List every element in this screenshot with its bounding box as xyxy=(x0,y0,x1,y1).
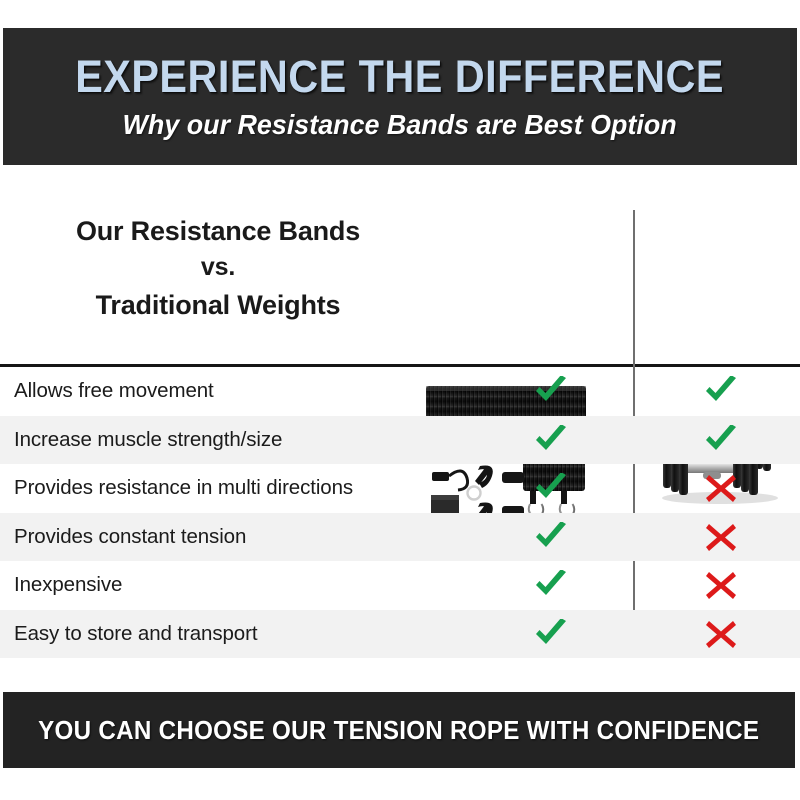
check-icon xyxy=(534,522,568,552)
table-row: Provides resistance in multi directions xyxy=(0,464,800,513)
row-label: Easy to store and transport xyxy=(0,622,481,646)
footer-banner: YOU CAN CHOOSE OUR TENSION ROPE WITH CON… xyxy=(3,692,795,768)
cell-bands-5 xyxy=(481,619,622,649)
cell-weights-3 xyxy=(642,522,800,552)
check-icon xyxy=(534,376,568,406)
footer-text: YOU CAN CHOOSE OUR TENSION ROPE WITH CON… xyxy=(38,715,759,746)
row-label: Increase muscle strength/size xyxy=(0,428,481,452)
cell-weights-4 xyxy=(642,570,800,600)
header-banner: EXPERIENCE THE DIFFERENCE Why our Resist… xyxy=(3,28,797,165)
cross-icon xyxy=(705,619,737,649)
cross-icon xyxy=(705,522,737,552)
cross-icon xyxy=(705,570,737,600)
table-row: Increase muscle strength/size xyxy=(0,416,800,465)
cell-bands-3 xyxy=(481,522,622,552)
cell-bands-4 xyxy=(481,570,622,600)
page-title: EXPERIENCE THE DIFFERENCE xyxy=(76,54,725,99)
comparison-table: Allows free movement Increase muscle str… xyxy=(0,367,800,658)
row-label: Provides resistance in multi directions xyxy=(0,476,481,500)
check-icon xyxy=(704,376,738,406)
check-icon xyxy=(704,425,738,455)
infographic-page: EXPERIENCE THE DIFFERENCE Why our Resist… xyxy=(0,0,800,800)
check-icon xyxy=(534,619,568,649)
cell-bands-2 xyxy=(481,473,622,503)
comparison-header: Our Resistance Bands vs. Traditional Wei… xyxy=(0,180,800,366)
table-row: Easy to store and transport xyxy=(0,610,800,659)
versus-separator-label: vs. xyxy=(201,250,235,286)
cell-weights-2 xyxy=(642,473,800,503)
check-icon xyxy=(534,570,568,600)
row-label: Provides constant tension xyxy=(0,525,481,549)
table-row: Inexpensive xyxy=(0,561,800,610)
check-icon xyxy=(534,473,568,503)
table-row: Provides constant tension xyxy=(0,513,800,562)
versus-line-traditional: Traditional Weights xyxy=(96,286,341,324)
versus-title-block: Our Resistance Bands vs. Traditional Wei… xyxy=(18,188,418,348)
row-label: Allows free movement xyxy=(0,379,481,403)
cell-weights-0 xyxy=(642,376,800,406)
table-row: Allows free movement xyxy=(0,367,800,416)
cell-bands-0 xyxy=(481,376,622,406)
cell-bands-1 xyxy=(481,425,622,455)
cross-icon xyxy=(705,473,737,503)
row-label: Inexpensive xyxy=(0,573,481,597)
cell-weights-5 xyxy=(642,619,800,649)
cell-weights-1 xyxy=(642,425,800,455)
page-subtitle: Why our Resistance Bands are Best Option xyxy=(123,111,677,139)
versus-line-ours: Our Resistance Bands xyxy=(76,212,360,250)
check-icon xyxy=(534,425,568,455)
